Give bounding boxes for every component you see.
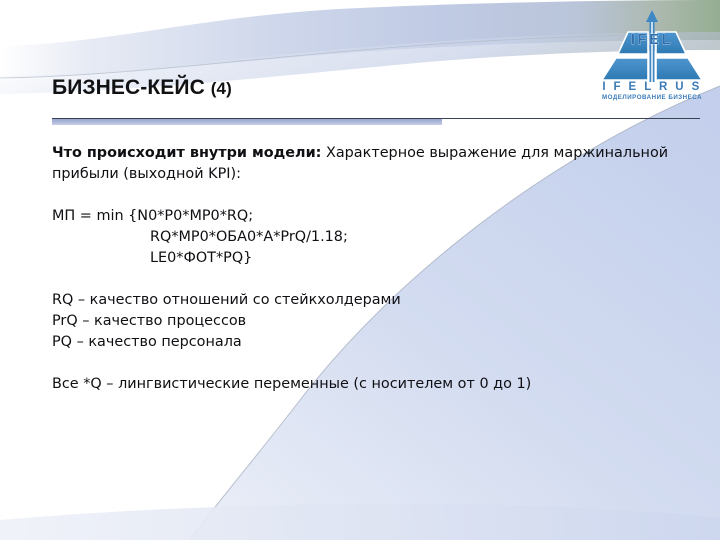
- page-title-main: БИЗНЕС-КЕЙС: [52, 76, 205, 99]
- spacer: [52, 185, 692, 206]
- lead-paragraph: Что происходит внутри модели: Характерно…: [52, 143, 692, 185]
- definition-prq: PrQ – качество процессов: [52, 311, 692, 332]
- title-divider: [52, 118, 700, 126]
- logo-tagline: МОДЕЛИРОВАНИЕ БИЗНЕСА: [602, 94, 702, 101]
- logo-mark-text: IFEL: [631, 31, 674, 48]
- tail-paragraph: Все *Q – лингвистические переменные (с н…: [52, 374, 692, 395]
- formula-line-2: RQ*MP0*ОБА0*A*PrQ/1.18;: [52, 227, 692, 248]
- logo-wordmark: I F E L R U S: [602, 81, 701, 93]
- divider-accent-bar: [52, 119, 442, 125]
- definition-pq: PQ – качество персонала: [52, 332, 692, 353]
- lead-bold-text: Что происходит внутри модели:: [52, 145, 321, 161]
- formula-line-3: LE0*ФОТ*PQ}: [52, 248, 692, 269]
- page-title: БИЗНЕС-КЕЙС (4): [52, 76, 232, 100]
- ifel-rus-logo: IFEL I F E L R U S МОДЕЛИРОВАНИЕ БИЗНЕСА: [588, 4, 716, 102]
- page-title-suffix: (4): [211, 79, 232, 98]
- bottom-strip-shape: [0, 504, 720, 540]
- slide-body: Что происходит внутри модели: Характерно…: [52, 143, 692, 395]
- formula-line-1: МП = min {N0*P0*MP0*RQ;: [52, 206, 692, 227]
- definition-rq: RQ – качество отношений со стейкхолдерам…: [52, 290, 692, 311]
- spacer: [52, 269, 692, 290]
- slide: IFEL I F E L R U S МОДЕЛИРОВАНИЕ БИЗНЕСА…: [0, 0, 720, 540]
- spacer: [52, 353, 692, 374]
